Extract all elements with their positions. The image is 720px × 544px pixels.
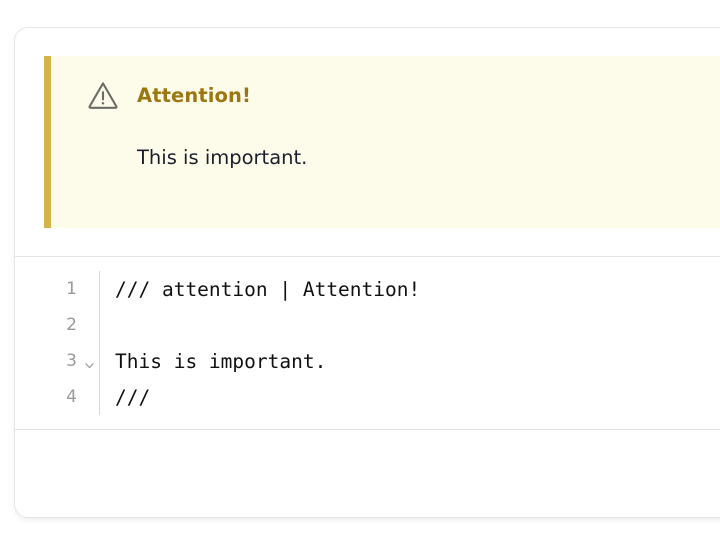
code-line-row: 4 ///: [15, 379, 720, 415]
line-number: 4: [65, 389, 77, 406]
code-lines: 1 /// attention | Attention! 2: [15, 271, 720, 415]
page-viewport: Attention! This is important. 1 /// atte…: [0, 0, 720, 544]
warning-triangle-icon: [86, 78, 120, 112]
line-number-gutter: 1: [15, 271, 79, 307]
card-footer: [15, 430, 720, 487]
fold-slot: [79, 271, 99, 307]
code-line-text[interactable]: ///: [100, 379, 720, 415]
line-number: 3: [65, 353, 77, 370]
example-card: Attention! This is important. 1 /// atte…: [14, 27, 720, 518]
line-number-gutter: 3: [15, 343, 79, 379]
code-line-row: 2: [15, 307, 720, 343]
fold-slot[interactable]: [79, 343, 99, 379]
source-code-pane[interactable]: 1 /// attention | Attention! 2: [15, 257, 720, 430]
line-number-gutter: 4: [15, 379, 79, 415]
admonition-body-text: This is important.: [137, 143, 720, 172]
code-line-text[interactable]: This is important.: [100, 343, 720, 379]
chevron-down-icon[interactable]: [84, 356, 95, 367]
code-line-row: 3 This is important.: [15, 343, 720, 379]
fold-slot: [79, 307, 99, 343]
code-line-row: 1 /// attention | Attention!: [15, 271, 720, 307]
code-line-text[interactable]: /// attention | Attention!: [100, 271, 720, 307]
code-line-text[interactable]: [100, 307, 720, 343]
line-number: 1: [65, 281, 77, 298]
fold-slot: [79, 379, 99, 415]
rendered-preview-pane: Attention! This is important.: [15, 28, 720, 257]
line-number-gutter: 2: [15, 307, 79, 343]
admonition-attention: Attention! This is important.: [44, 56, 720, 228]
admonition-title-row: Attention!: [86, 78, 720, 112]
admonition-title: Attention!: [137, 84, 251, 107]
line-number: 2: [65, 317, 77, 334]
